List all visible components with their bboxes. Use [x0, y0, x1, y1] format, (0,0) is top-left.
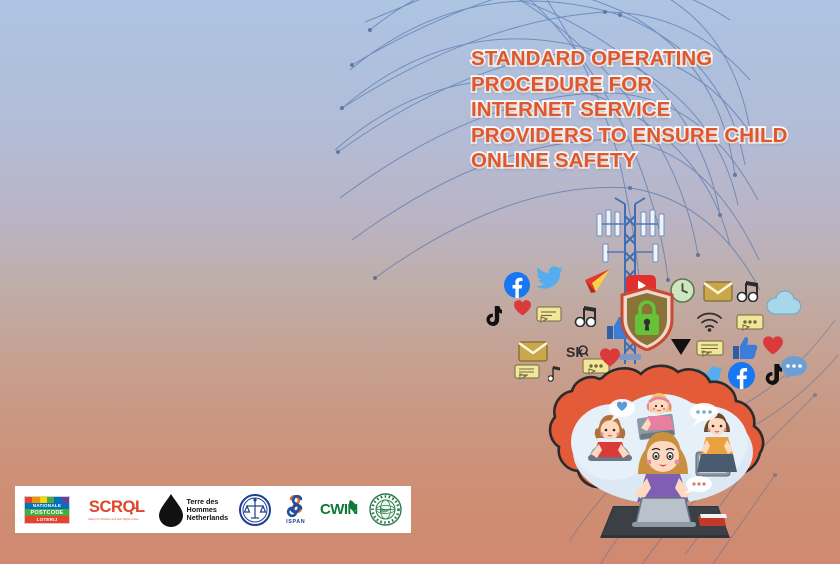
scrol-signal-icon	[130, 504, 139, 515]
security-shield-icon	[620, 287, 674, 351]
envelope-icon	[518, 340, 548, 362]
npl-line-2: POSTCODE	[25, 509, 69, 516]
title-line-3: INTERNET SERVICE	[471, 97, 831, 123]
logo-nationale-postcode-loterij: NATIONALE POSTCODE LOTERIJ	[24, 496, 70, 524]
government-emblem-icon	[369, 493, 402, 526]
logo-scrol: SCROL Safety for Children and their Righ…	[81, 498, 146, 521]
thumbs-up-right-icon	[732, 336, 759, 360]
tiktok-icon	[483, 306, 502, 328]
heart-right-icon	[763, 336, 783, 355]
facebook-icon	[504, 272, 530, 298]
twitter-icon	[536, 266, 563, 289]
cwin-leaf-icon	[347, 499, 359, 512]
message-right-icon	[736, 314, 764, 333]
logo-government-emblem	[369, 493, 402, 526]
npl-line-1: NATIONALE	[25, 503, 69, 510]
envelope-right-icon	[703, 280, 733, 302]
children-online-illustration	[518, 360, 808, 556]
nepal-police-emblem-icon	[239, 494, 271, 526]
logo-terre-des-hommes: Terre des Hommes Netherlands	[158, 493, 229, 527]
cover-page: STANDARD OPERATING PROCEDURE FOR INTERNE…	[0, 0, 840, 564]
megaphone-icon	[582, 268, 612, 294]
message-icon	[536, 306, 562, 324]
ispan-mark-icon	[283, 494, 309, 518]
ispan-wordmark: ISPAN	[286, 519, 305, 525]
title-line-1: STANDARD OPERATING	[471, 46, 831, 72]
title-line-4: PROVIDERS TO ENSURE CHILD	[471, 123, 831, 149]
logo-nepal-police	[239, 494, 271, 526]
heart-icon	[514, 300, 531, 316]
music-note-icon	[574, 305, 598, 327]
title-line-2: PROCEDURE FOR	[471, 72, 831, 98]
logo-cwin: CWIN	[320, 501, 358, 518]
music-note-right-icon	[736, 280, 760, 302]
tdh-line-3: Netherlands	[187, 514, 229, 522]
npl-line-3: LOTERIJ	[25, 516, 69, 523]
tdh-drop-icon	[158, 493, 184, 527]
page-title: STANDARD OPERATING PROCEDURE FOR INTERNE…	[471, 46, 831, 174]
cloud-icon	[766, 290, 806, 316]
chat-bubble-right-icon	[696, 340, 724, 360]
wifi-icon	[696, 310, 723, 332]
partner-logo-bar: NATIONALE POSTCODE LOTERIJ SCROL Safety …	[15, 486, 411, 533]
logo-ispan: ISPAN	[283, 494, 309, 525]
title-line-5: ONLINE SAFETY	[471, 148, 831, 174]
scrol-tagline: Safety for Children and their Rights onl…	[88, 517, 139, 520]
